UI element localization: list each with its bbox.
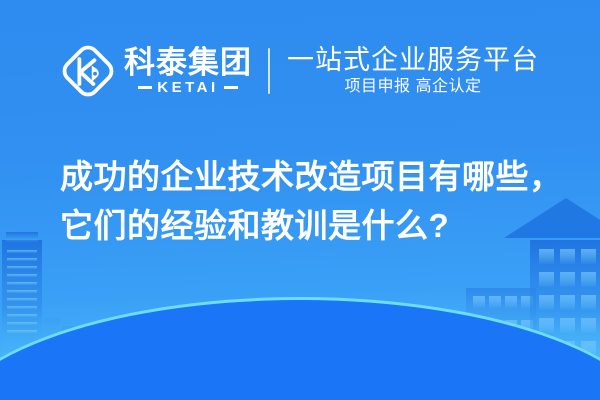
tagline-sub: 项目申报 高企认定 — [287, 79, 539, 96]
brand-lockup: 科泰集团 KETAI — [61, 44, 252, 98]
brand-name-en-row: KETAI — [124, 80, 252, 95]
brand-name-en: KETAI — [157, 80, 218, 95]
brand-wordmark: 科泰集团 KETAI — [124, 47, 252, 95]
bottom-arc-curve-icon — [0, 300, 600, 400]
dash-right-icon — [224, 86, 238, 89]
ketai-kp-diamond-logo-icon — [61, 44, 115, 98]
dash-left-icon — [138, 86, 152, 89]
tagline-main: 一站式企业服务平台 — [287, 46, 539, 74]
brand-name-cn: 科泰集团 — [124, 47, 252, 78]
headline-line-1: 成功的企业技术改造项目有哪些， — [60, 152, 560, 201]
tagline-block: 一站式企业服务平台 项目申报 高企认定 — [287, 46, 539, 95]
headline-block: 成功的企业技术改造项目有哪些， 它们的经验和教训是什么? — [60, 152, 560, 250]
banner-header: 科泰集团 KETAI 一站式企业服务平台 项目申报 高企认定 — [0, 38, 600, 104]
promo-banner: 科泰集团 KETAI 一站式企业服务平台 项目申报 高企认定 成功的企业技术改造… — [0, 0, 600, 400]
header-divider — [268, 48, 270, 94]
headline-line-2: 它们的经验和教训是什么? — [60, 201, 560, 250]
